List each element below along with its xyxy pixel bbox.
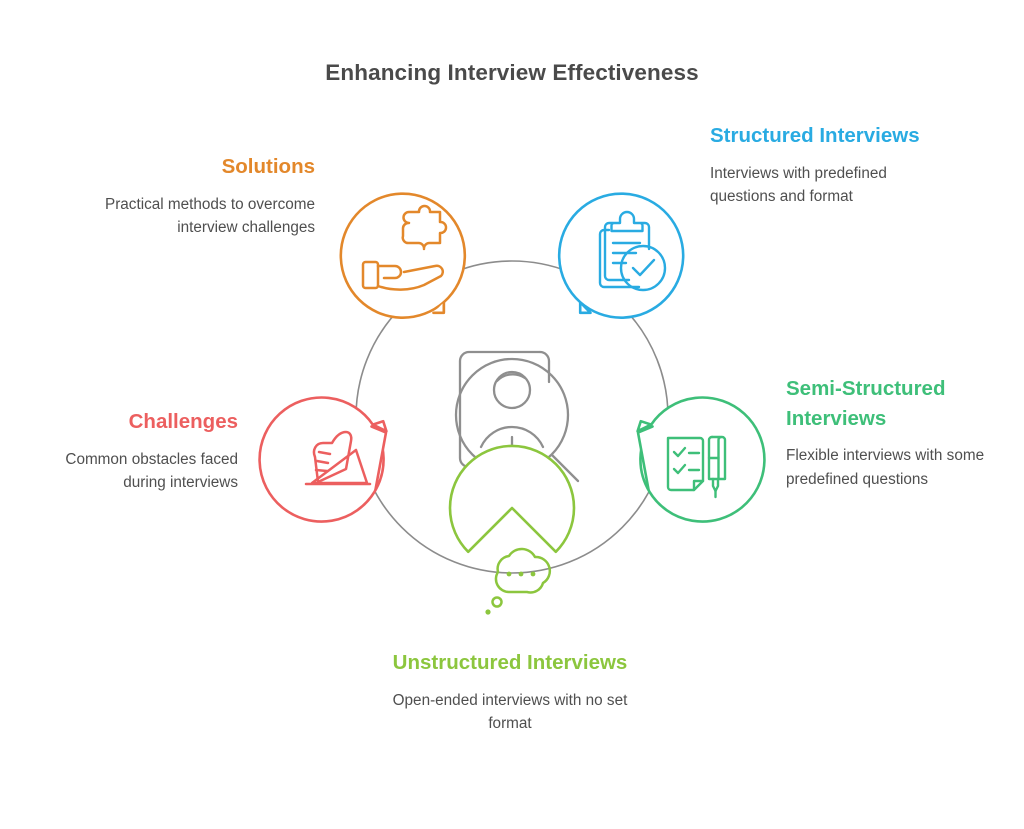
diagram-stage: Enhancing Interview Effectiveness — [0, 0, 1024, 829]
node-desc-solutions: Practical methods to overcome interview … — [95, 193, 315, 240]
node-heading-semi-structured: Semi-Structured Interviews — [786, 374, 1021, 433]
node-desc-unstructured: Open-ended interviews with no set format — [385, 689, 635, 736]
node-text-challenges: Challenges Common obstacles faced during… — [30, 407, 238, 494]
node-heading-structured: Structured Interviews — [710, 121, 950, 151]
node-desc-semi-structured: Flexible interviews with some predefined… — [786, 444, 1021, 491]
node-desc-challenges: Common obstacles faced during interviews — [30, 448, 238, 495]
pin-unstructured[interactable] — [450, 446, 574, 615]
node-text-structured: Structured Interviews Interviews with pr… — [710, 121, 950, 208]
node-heading-solutions: Solutions — [95, 152, 315, 182]
pin-challenges[interactable] — [260, 398, 387, 522]
node-heading-challenges: Challenges — [30, 407, 238, 437]
thought-bubble-icon — [485, 549, 549, 615]
node-text-unstructured: Unstructured Interviews Open-ended inter… — [385, 648, 635, 735]
node-text-solutions: Solutions Practical methods to overcome … — [95, 152, 315, 239]
pin-unstructured-shape — [450, 446, 574, 552]
pin-structured-shape — [559, 194, 683, 318]
pin-solutions[interactable] — [341, 194, 465, 318]
pin-structured[interactable] — [559, 194, 683, 318]
pin-semi-structured[interactable] — [638, 398, 765, 522]
pin-semi-structured-shape — [638, 398, 765, 522]
node-desc-structured: Interviews with predefined questions and… — [710, 162, 950, 209]
pin-solutions-shape — [341, 194, 465, 318]
node-heading-unstructured: Unstructured Interviews — [385, 648, 635, 678]
node-text-semi-structured: Semi-Structured Interviews Flexible inte… — [786, 374, 1021, 491]
pin-challenges-shape — [260, 398, 387, 522]
